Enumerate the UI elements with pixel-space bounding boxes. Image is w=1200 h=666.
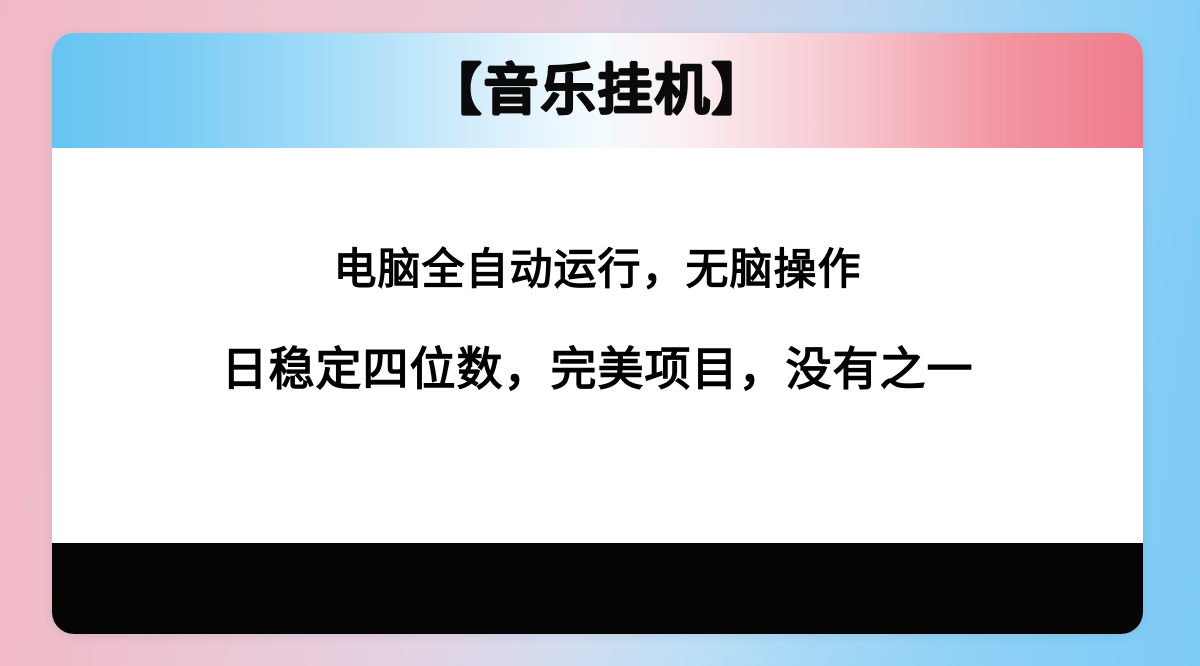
headline-line-2: 日稳定四位数，完美项目，没有之一 xyxy=(222,345,974,393)
card-body: 电脑全自动运行，无脑操作 日稳定四位数，完美项目，没有之一 xyxy=(52,148,1143,543)
promo-card: 【音乐挂机】 电脑全自动运行，无脑操作 日稳定四位数，完美项目，没有之一 xyxy=(52,33,1143,634)
card-header-band: 【音乐挂机】 xyxy=(52,33,1143,148)
headline-line-1: 电脑全自动运行，无脑操作 xyxy=(334,248,862,293)
page-title: 【音乐挂机】 xyxy=(426,63,768,118)
poster-page: 【音乐挂机】 电脑全自动运行，无脑操作 日稳定四位数，完美项目，没有之一 xyxy=(0,0,1200,666)
card-footer-bar xyxy=(52,543,1143,634)
